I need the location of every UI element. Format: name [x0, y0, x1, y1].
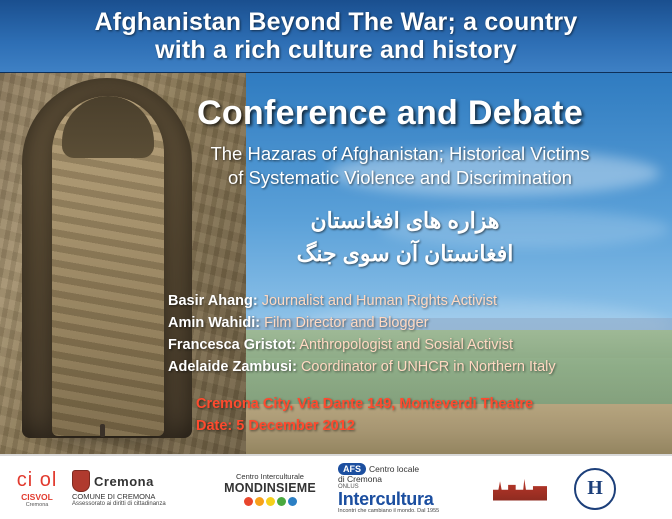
logo-comune-di-cremona: Cremona COMUNE DI CREMONA Assessorato ai…: [72, 460, 202, 518]
cisvol-sub: Cremona: [26, 502, 49, 508]
poster-content: Conference and Debate The Hazaras of Afg…: [0, 72, 672, 454]
poster: Afghanistan Beyond The War; a country wi…: [0, 0, 672, 519]
subtitle-line-2: of Systematic Violence and Discriminatio…: [140, 166, 660, 190]
speaker-list: Basir Ahang: Journalist and Human Rights…: [168, 290, 668, 378]
centro-dots-icon: [244, 497, 297, 506]
centro-line-2: MONDINSIEME: [224, 481, 316, 495]
poster-subtitle: The Hazaras of Afghanistan; Historical V…: [140, 142, 660, 189]
intercultura-line-1: Centro locale: [369, 465, 419, 474]
cremona-title: Cremona: [94, 474, 154, 489]
poster-title-line-2: with a rich culture and history: [95, 36, 578, 64]
subtitle-line-1: The Hazaras of Afghanistan; Historical V…: [140, 142, 660, 166]
speaker-name: Amin Wahidi:: [168, 315, 260, 331]
logo-cisvol: ci ol CISVOL Cremona: [8, 460, 66, 518]
venue-address: Cremona City, Via Dante 149, Monteverdi …: [196, 394, 666, 416]
speaker-row: Francesca Gristot: Anthropologist and So…: [168, 334, 668, 356]
speaker-row: Amin Wahidi: Film Director and Blogger: [168, 312, 668, 334]
logo-centro-interculturale: Centro Interculturale MONDINSIEME: [206, 460, 334, 518]
farsi-headline: هزاره های افغانستان افغانستان آن سوی جنگ: [150, 204, 660, 270]
cisvol-mark-icon: ci ol: [17, 470, 58, 490]
cremona-title-row: Cremona: [72, 470, 154, 492]
speaker-row: Adelaide Zambusi: Coordinator of UNHCR i…: [168, 356, 668, 378]
farsi-line-2: افغانستان آن سوی جنگ: [150, 237, 660, 270]
farsi-line-1: هزاره های افغانستان: [150, 204, 660, 237]
conference-heading: Conference and Debate: [120, 94, 660, 133]
logo-h-international: H: [552, 460, 638, 518]
event-date: Date: 5 December 2012: [196, 416, 666, 438]
speaker-role: Coordinator of UNHCR in Northern Italy: [301, 359, 556, 375]
speaker-role: Anthropologist and Sosial Activist: [299, 337, 513, 353]
speaker-role: Journalist and Human Rights Activist: [262, 293, 497, 309]
venue-block: Cremona City, Via Dante 149, Monteverdi …: [196, 394, 666, 438]
speaker-role: Film Director and Blogger: [264, 315, 428, 331]
poster-title: Afghanistan Beyond The War; a country wi…: [87, 8, 586, 64]
sponsor-logo-bar: ci ol CISVOL Cremona Cremona COMUNE DI C…: [0, 454, 672, 519]
speaker-row: Basir Ahang: Journalist and Human Rights…: [168, 290, 668, 312]
poster-title-band: Afghanistan Beyond The War; a country wi…: [0, 0, 672, 73]
poster-title-line-1: Afghanistan Beyond The War; a country: [95, 8, 578, 36]
cisvol-name: CISVOL: [21, 492, 53, 502]
speaker-name: Basir Ahang:: [168, 293, 258, 309]
centro-line-1: Centro Interculturale: [236, 472, 304, 481]
intercultura-wordmark: Intercultura: [338, 490, 433, 508]
logo-city-skyline: [490, 460, 550, 518]
h-letter: H: [587, 477, 603, 500]
h-international-icon: H: [574, 468, 616, 510]
cremona-line-1: COMUNE DI CREMONA: [72, 492, 155, 501]
intercultura-tagline: Incontri che cambiano il mondo. Dal 1955: [338, 508, 439, 514]
logo-intercultura: AFS Centro locale di Cremona ONLUS Inter…: [338, 460, 488, 518]
city-skyline-icon: [493, 477, 547, 501]
intercultura-line-2: di Cremona: [338, 475, 382, 484]
cremona-crest-icon: [72, 470, 90, 492]
speaker-name: Adelaide Zambusi:: [168, 359, 297, 375]
speaker-name: Francesca Gristot:: [168, 337, 296, 353]
cremona-line-2: Assessorato ai diritti di cittadinanza: [72, 501, 166, 507]
